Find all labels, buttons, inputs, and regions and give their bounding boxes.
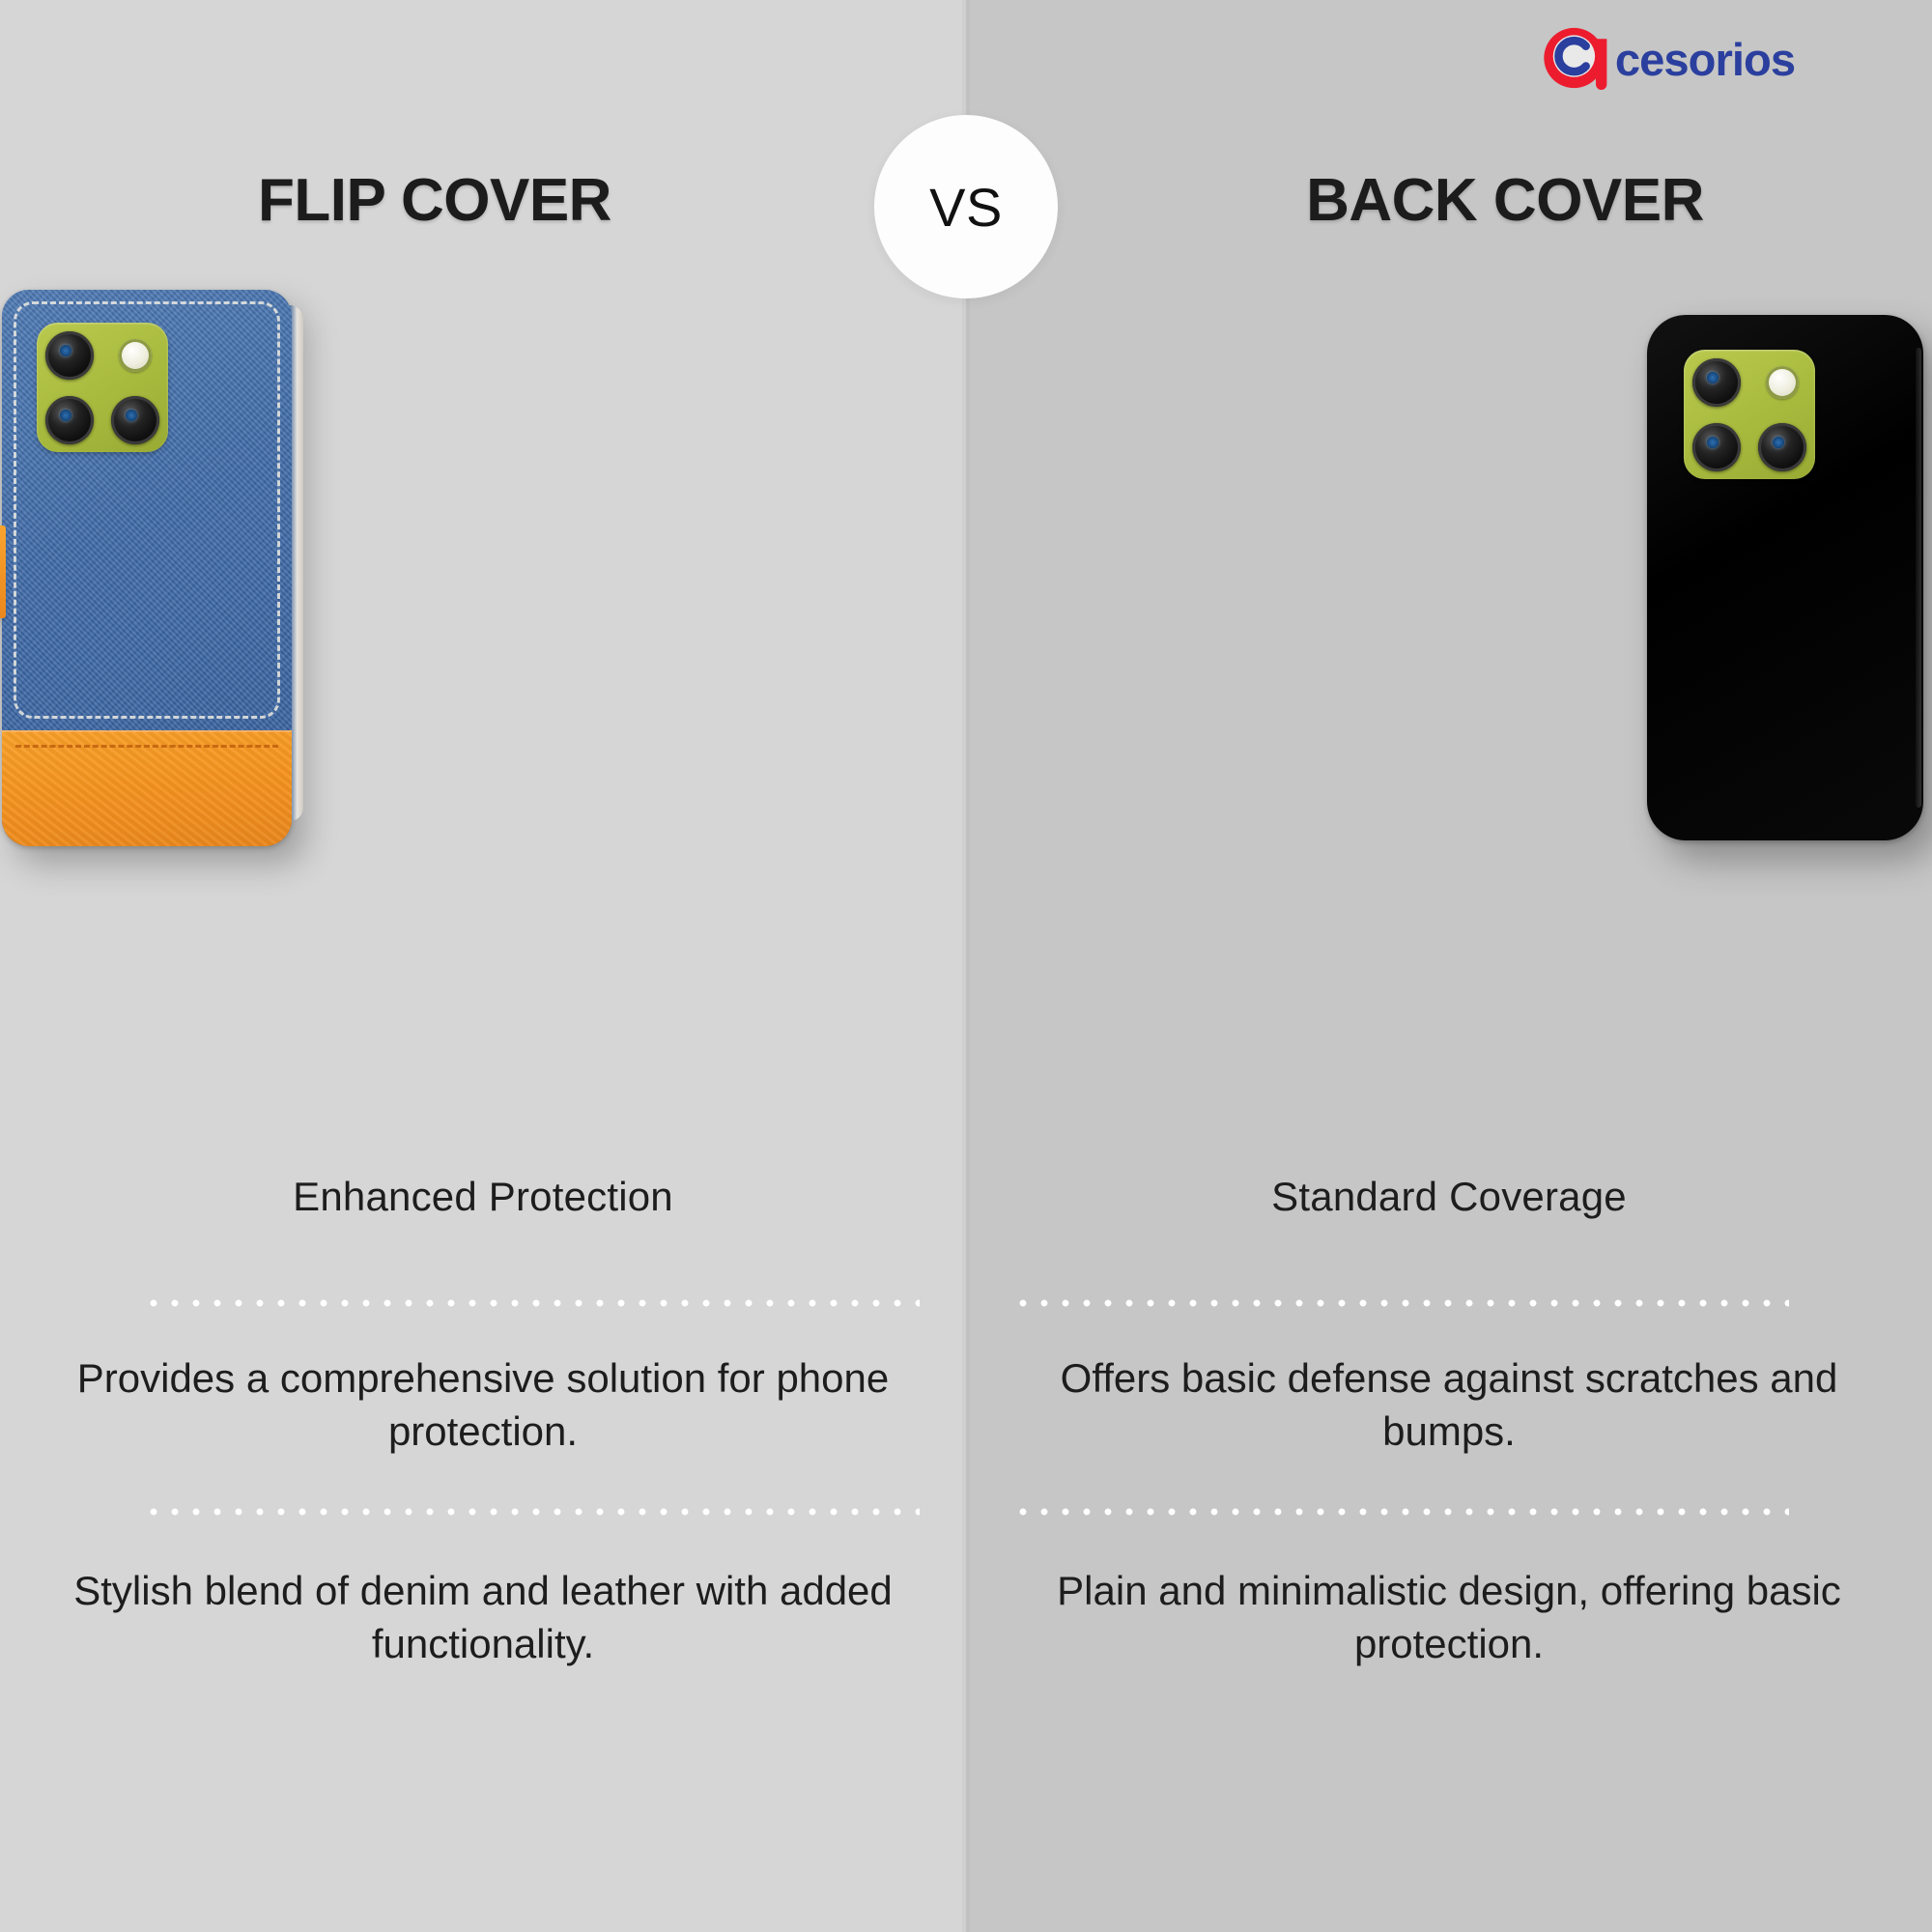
- feature-point-flip-2: Stylish blend of denim and leather with …: [70, 1565, 896, 1670]
- divider-dotted: [1012, 1298, 1789, 1308]
- product-image-flip-cover: [0, 290, 966, 889]
- divider-dotted: [143, 1298, 920, 1308]
- camera-lens-icon: [1692, 423, 1741, 471]
- camera-lens-icon: [1692, 358, 1741, 407]
- camera-lens-icon: [111, 396, 159, 444]
- camera-module-icon: [1684, 350, 1815, 479]
- feature-point-flip-1: Provides a comprehensive solution for ph…: [70, 1352, 896, 1458]
- column-subtitle-flip-cover: Enhanced Protection: [0, 1174, 966, 1220]
- column-back-cover: BACK COVER Standard Coverage Offers basi…: [966, 0, 1932, 1932]
- comparison-infographic: FLIP COVER Enhanced Protection Provides: [0, 0, 1932, 1932]
- column-title-flip-cover: FLIP COVER: [0, 166, 918, 235]
- product-image-back-cover: [966, 290, 1932, 889]
- camera-flash-icon: [1766, 366, 1799, 399]
- feature-point-back-1: Offers basic defense against scratches a…: [1036, 1352, 1862, 1458]
- flip-cover-leather-panel: [2, 730, 292, 846]
- divider-dotted: [143, 1507, 920, 1517]
- camera-lens-icon: [45, 331, 94, 380]
- column-title-back-cover: BACK COVER: [1022, 166, 1932, 235]
- brand-logo[interactable]: cesorios: [1499, 23, 1886, 93]
- camera-flash-icon: [119, 339, 152, 372]
- camera-lens-icon: [1758, 423, 1806, 471]
- flip-cover-closure-tab: [0, 526, 6, 618]
- vs-badge: VS: [874, 115, 1058, 298]
- divider-dotted: [1012, 1507, 1789, 1517]
- svg-text:cesorios: cesorios: [1615, 34, 1795, 85]
- acesorios-logo-icon: cesorios: [1499, 26, 1886, 90]
- column-flip-cover: FLIP COVER Enhanced Protection Provides: [0, 0, 966, 1932]
- camera-lens-icon: [45, 396, 94, 444]
- flip-cover-case: [2, 290, 292, 846]
- column-subtitle-back-cover: Standard Coverage: [966, 1174, 1932, 1220]
- back-cover-case: [1647, 315, 1923, 840]
- camera-module-icon: [37, 323, 168, 452]
- feature-point-back-2: Plain and minimalistic design, offering …: [1036, 1565, 1862, 1670]
